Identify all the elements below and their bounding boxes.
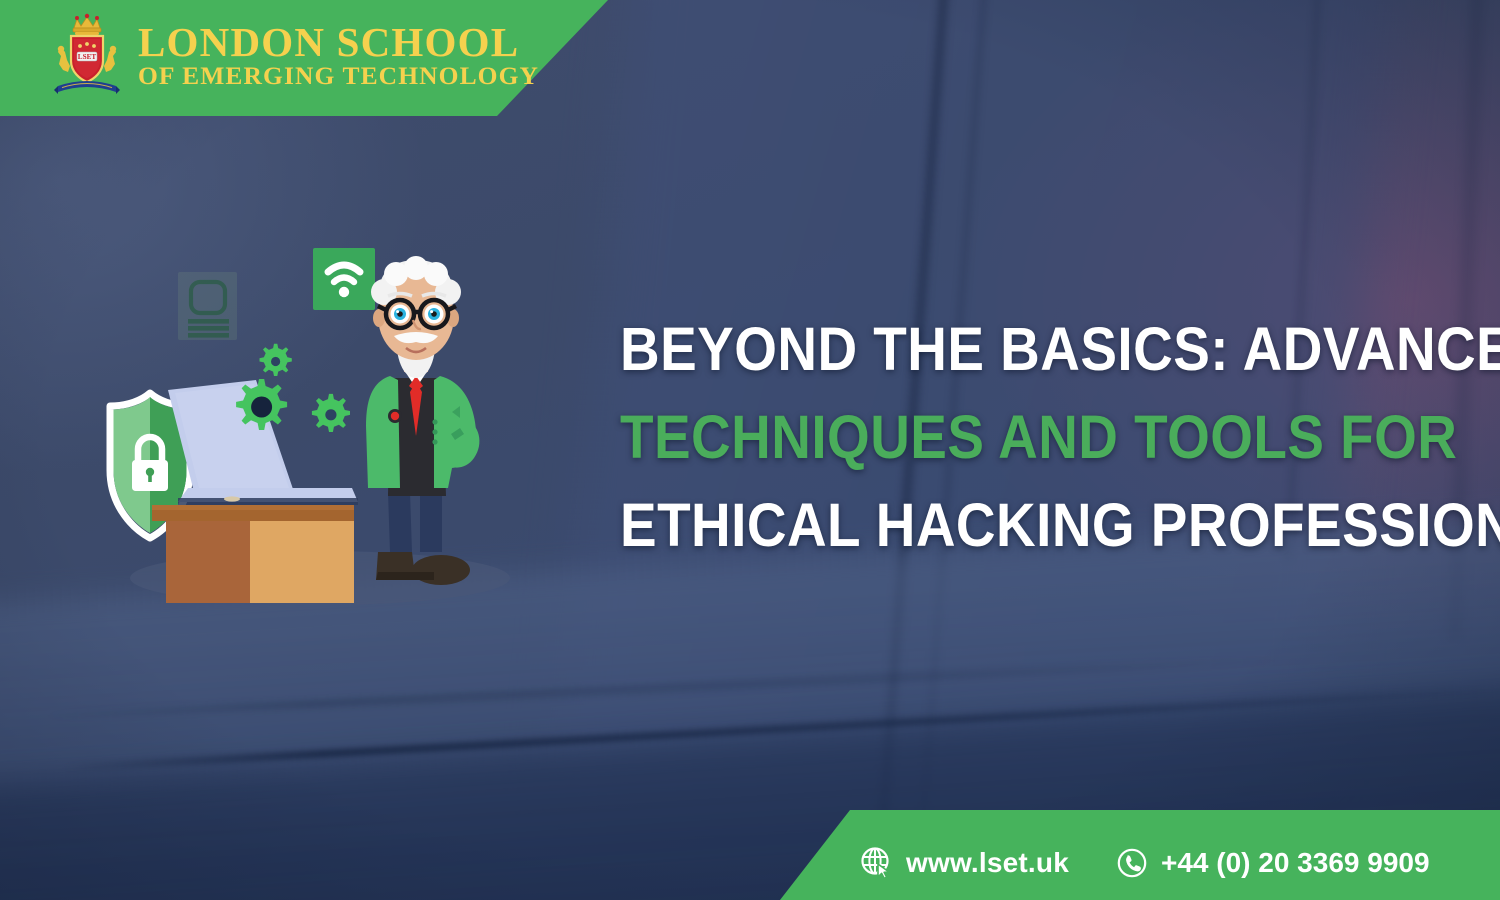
headline-line-2: TECHNIQUES AND TOOLS FOR: [620, 393, 1385, 481]
footer-phone[interactable]: +44 (0) 20 3369 9909: [1115, 846, 1430, 880]
headline-block: BEYOND THE BASICS: ADVANCED TECHNIQUES A…: [620, 305, 1470, 569]
brand-logo[interactable]: LSET LONDON SCHOOL OF EMERGING TECHNOLOG…: [50, 12, 539, 100]
banner-canvas: LSET LONDON SCHOOL OF EMERGING TECHNOLOG…: [0, 0, 1500, 900]
footer-website-label: www.lset.uk: [906, 847, 1069, 879]
brand-logo-text: LONDON SCHOOL OF EMERGING TECHNOLOGY: [138, 23, 539, 89]
footer-contact-group: www.lset.uk +44 (0) 20 3369 9909: [860, 810, 1500, 900]
headline-line-1: BEYOND THE BASICS: ADVANCED: [620, 305, 1385, 393]
phone-circle-icon: [1115, 846, 1149, 880]
shoe-right: [412, 555, 470, 585]
trouser-left: [388, 492, 412, 552]
crest-initials: LSET: [78, 53, 97, 61]
document-icon: [178, 272, 237, 340]
desk-left-panel: [166, 521, 250, 603]
headline-line-3: ETHICAL HACKING PROFESSIONALS: [620, 481, 1385, 569]
trouser-right: [420, 492, 442, 552]
brand-name-secondary: OF EMERGING TECHNOLOGY: [138, 64, 539, 89]
footer-website[interactable]: www.lset.uk: [860, 846, 1069, 880]
lset-crest-icon: LSET: [50, 12, 124, 100]
professor-character: [366, 256, 479, 585]
gear-medium-icon: [312, 394, 350, 432]
globe-cursor-icon: [860, 846, 894, 880]
gear-small-icon: [260, 344, 292, 376]
blazer-left: [366, 376, 400, 488]
desk-right-panel: [250, 521, 354, 603]
wifi-icon: [313, 248, 375, 310]
gear-large-icon: [236, 379, 287, 430]
hero-illustration: [60, 230, 580, 630]
footer-phone-label: +44 (0) 20 3369 9909: [1161, 847, 1430, 879]
brand-name-primary: LONDON SCHOOL: [138, 23, 539, 63]
